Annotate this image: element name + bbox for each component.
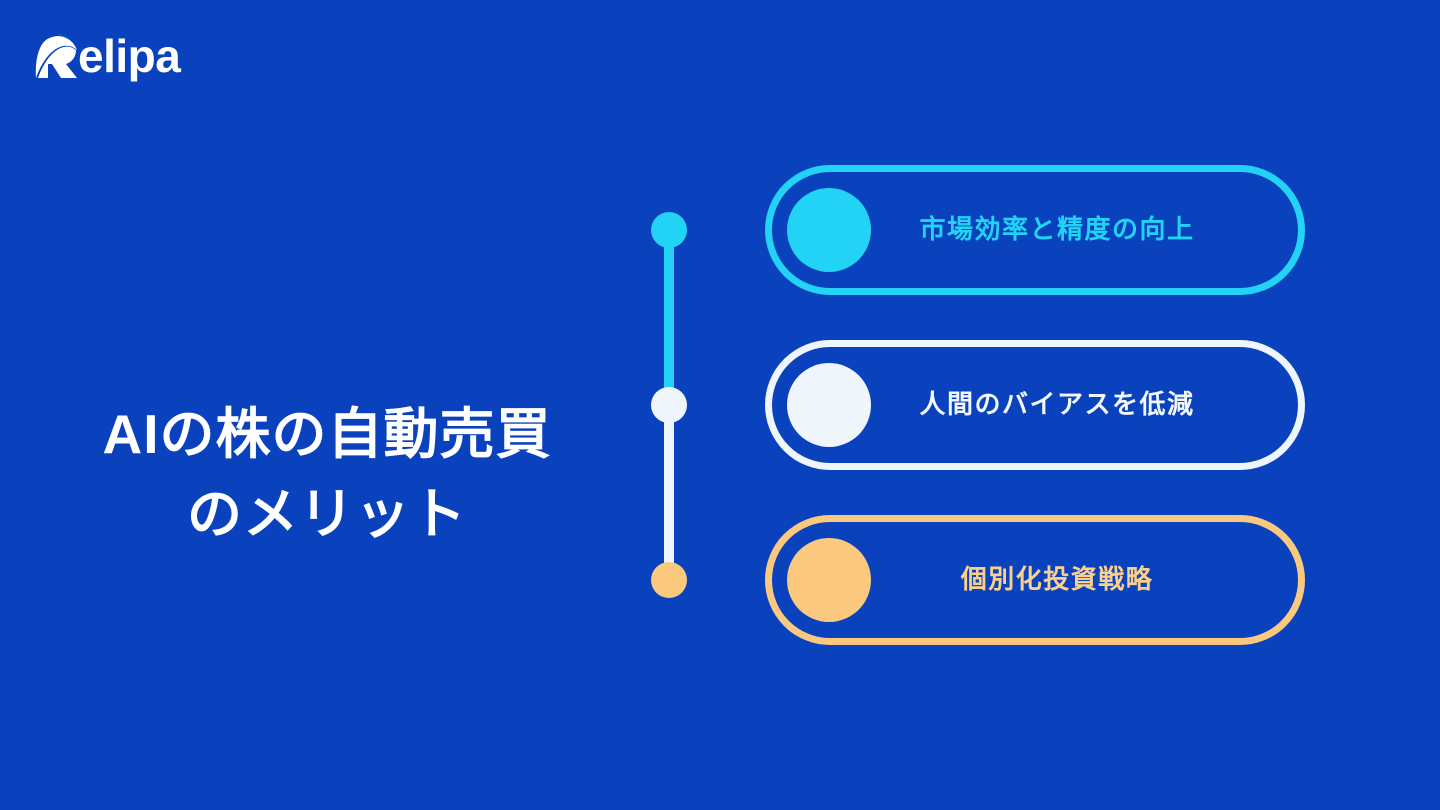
benefit-card-1-label: 市場効率と精度の向上 bbox=[871, 214, 1298, 245]
timeline-dot-3 bbox=[651, 562, 687, 598]
filled-circle-icon bbox=[787, 188, 871, 272]
page-title: AIの株の自動売買 のメリット bbox=[62, 395, 592, 555]
relipa-wordmark: elipa bbox=[78, 33, 180, 79]
benefit-card-3-label: 個別化投資戦略 bbox=[871, 564, 1298, 595]
timeline-connector-2 bbox=[664, 403, 674, 583]
page-title-line-2: のメリット bbox=[62, 475, 592, 555]
relipa-r-swoosh-icon bbox=[28, 28, 80, 85]
timeline-dot-1 bbox=[651, 212, 687, 248]
benefit-card-1[interactable]: 市場効率と精度の向上 bbox=[765, 165, 1305, 295]
timeline-dot-2 bbox=[651, 387, 687, 423]
relipa-logo: elipa bbox=[28, 28, 180, 84]
filled-circle-icon bbox=[787, 538, 871, 622]
page-title-line-1: AIの株の自動売買 bbox=[62, 395, 592, 475]
timeline-connector-1 bbox=[664, 227, 674, 407]
benefit-card-3[interactable]: 個別化投資戦略 bbox=[765, 515, 1305, 645]
benefits-timeline bbox=[651, 205, 687, 605]
slide-canvas: elipa AIの株の自動売買 のメリット 市場効率と精度の向上 人間のバイアス… bbox=[0, 0, 1440, 810]
filled-circle-icon bbox=[787, 363, 871, 447]
benefit-card-2[interactable]: 人間のバイアスを低減 bbox=[765, 340, 1305, 470]
benefit-card-2-label: 人間のバイアスを低減 bbox=[871, 389, 1298, 420]
